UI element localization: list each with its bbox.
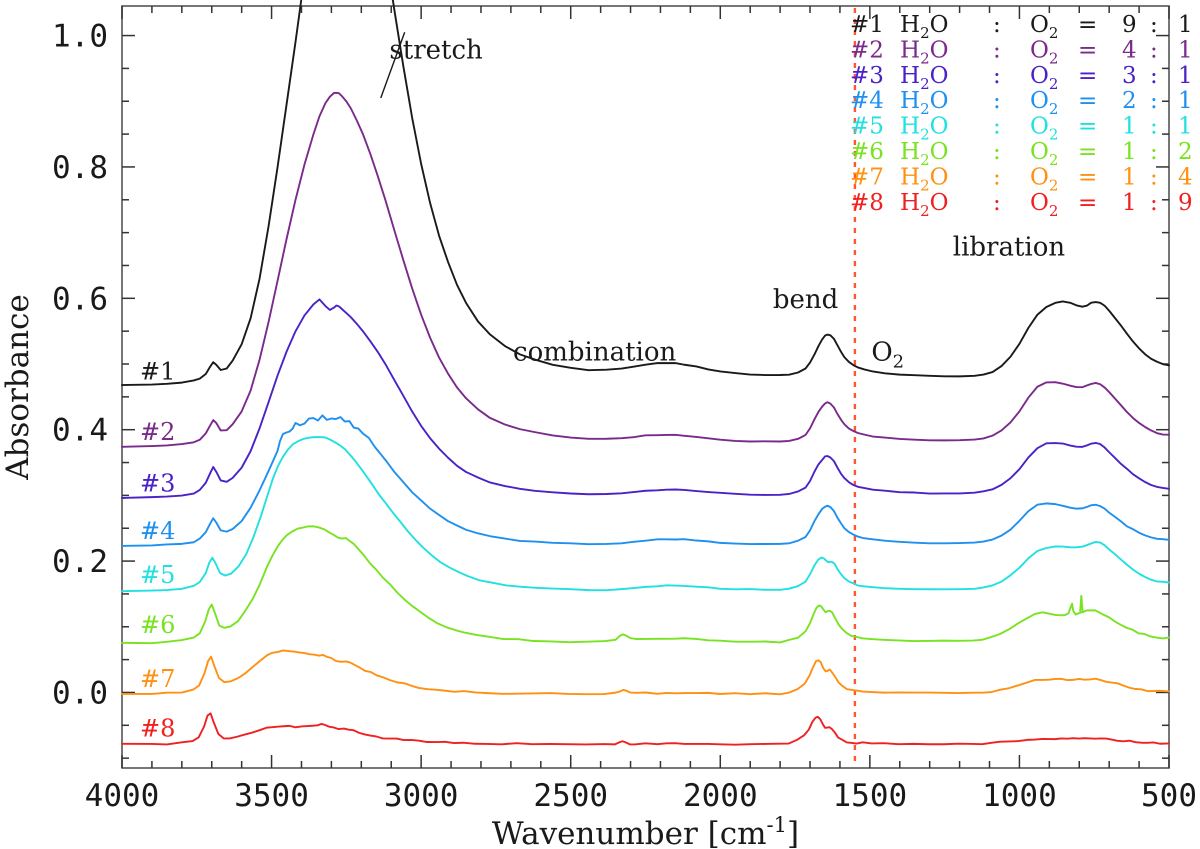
legend-colon-1: : [993, 37, 1001, 63]
legend-id: #1 [850, 12, 884, 38]
legend-equals: = [1078, 37, 1097, 63]
x-tick-label: 2500 [533, 778, 608, 814]
legend-ratio-right: 1 [1178, 114, 1193, 140]
legend-id: #6 [850, 139, 884, 165]
annotation-libration: libration [953, 233, 1066, 263]
y-tick-label: 0.4 [52, 413, 108, 449]
legend-ratio-right: 4 [1178, 164, 1193, 190]
curve-label-n1: #1 [140, 358, 175, 386]
legend-ratio-left: 1 [1122, 139, 1137, 165]
legend-ratio-right: 2 [1178, 139, 1193, 165]
x-axis-title: Wavenumber [cm-1] [492, 813, 799, 849]
legend-colon-2: : [1150, 114, 1158, 140]
legend-ratio-left: 2 [1122, 88, 1137, 114]
legend-colon-1: : [993, 12, 1001, 38]
y-tick-label: 0.0 [52, 675, 108, 711]
y-tick-label: 0.6 [52, 281, 108, 317]
legend-ratio-left: 3 [1122, 63, 1137, 89]
legend-ratio-left: 1 [1122, 190, 1137, 216]
x-tick-label: 500 [1141, 778, 1197, 814]
legend-id: #3 [850, 63, 884, 89]
legend-colon-2: : [1150, 164, 1158, 190]
x-tick-label: 2000 [683, 778, 758, 814]
legend-id: #2 [850, 37, 884, 63]
curve-label-n8: #8 [140, 714, 175, 742]
x-tick-label: 1000 [982, 778, 1057, 814]
annotation-combination: combination [513, 338, 676, 368]
legend-colon-2: : [1150, 37, 1158, 63]
curve-label-n4: #4 [140, 517, 175, 545]
annotation-o2-sub: 2 [893, 352, 904, 373]
legend-equals: = [1078, 88, 1097, 114]
legend-colon-1: : [993, 88, 1001, 114]
legend-equals: = [1078, 114, 1097, 140]
legend-ratio-right: 1 [1178, 63, 1193, 89]
legend-colon-2: : [1150, 12, 1158, 38]
curve-label-n3: #3 [140, 469, 175, 497]
legend-ratio-right: 1 [1178, 88, 1193, 114]
x-tick-label: 1500 [833, 778, 908, 814]
x-tick-label: 4000 [85, 778, 160, 814]
legend-ratio-left: 1 [1122, 164, 1137, 190]
y-tick-label: 0.8 [52, 150, 108, 186]
y-tick-label: 0.2 [52, 544, 108, 580]
legend-ratio-left: 1 [1122, 114, 1137, 140]
curve-label-n7: #7 [140, 665, 175, 693]
y-axis-title: Absorbance [0, 294, 36, 481]
annotation-o2-base: O [871, 338, 892, 368]
curve-label-n5: #5 [140, 561, 175, 589]
legend-id: #8 [850, 190, 884, 216]
legend-ratio-left: 9 [1122, 12, 1137, 38]
legend-ratio-right: 1 [1178, 37, 1193, 63]
legend-ratio-right: 9 [1178, 190, 1193, 216]
legend-colon-1: : [993, 139, 1001, 165]
annotation-bend: bend [773, 285, 838, 315]
y-tick-label: 1.0 [52, 19, 108, 55]
legend-colon-1: : [993, 190, 1001, 216]
legend-colon-2: : [1150, 139, 1158, 165]
chart-background [0, 0, 1200, 849]
legend-equals: = [1078, 12, 1097, 38]
legend-colon-1: : [993, 114, 1001, 140]
legend-equals: = [1078, 164, 1097, 190]
x-tick-label: 3500 [234, 778, 309, 814]
legend-colon-2: : [1150, 190, 1158, 216]
legend-equals: = [1078, 190, 1097, 216]
legend-colon-1: : [993, 63, 1001, 89]
ir-spectra-chart: 4000350030002500200015001000500 0.00.20.… [0, 0, 1200, 849]
x-tick-label: 3000 [384, 778, 459, 814]
chart-root: 4000350030002500200015001000500 0.00.20.… [0, 0, 1200, 849]
legend-id: #4 [850, 88, 884, 114]
legend-ratio-right: 1 [1178, 12, 1193, 38]
annotation-stretch: stretch [389, 36, 483, 66]
curve-label-n2: #2 [140, 418, 175, 446]
legend-colon-2: : [1150, 63, 1158, 89]
legend-ratio-left: 4 [1122, 37, 1137, 63]
legend-id: #5 [850, 114, 884, 140]
legend-id: #7 [850, 164, 884, 190]
curve-label-n6: #6 [140, 611, 175, 639]
legend-equals: = [1078, 63, 1097, 89]
legend-colon-1: : [993, 164, 1001, 190]
legend-equals: = [1078, 139, 1097, 165]
legend-colon-2: : [1150, 88, 1158, 114]
